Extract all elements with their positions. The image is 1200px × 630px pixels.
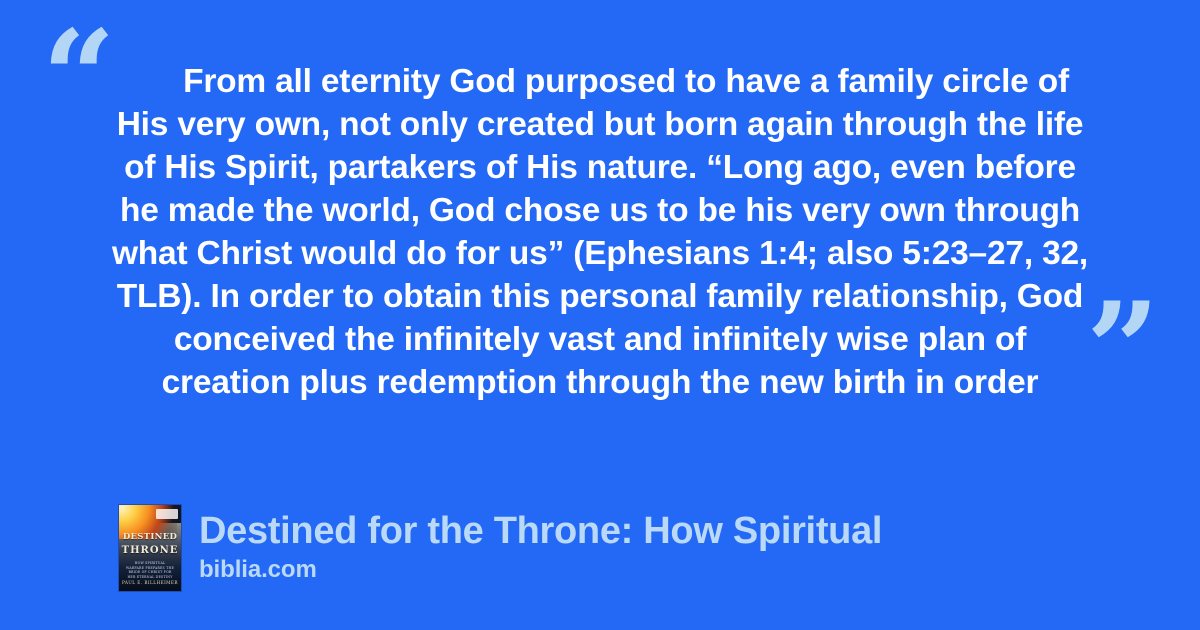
book-cover-award-badge bbox=[156, 509, 178, 519]
book-title: Destined for the Throne: How Spiritual bbox=[199, 509, 882, 553]
footer-attribution: DESTINED THRONE HOW SPIRITUAL WARFARE PR… bbox=[119, 505, 882, 591]
open-quote-icon: “ bbox=[42, 14, 114, 142]
footer-text-block: Destined for the Throne: How Spiritual b… bbox=[199, 505, 882, 585]
quote-text: From all eternity God purposed to have a… bbox=[110, 60, 1090, 404]
close-quote-icon: ” bbox=[1086, 286, 1158, 414]
book-cover-title-line-2: THRONE bbox=[119, 545, 181, 556]
quote-card: “ From all eternity God purposed to have… bbox=[0, 0, 1200, 630]
book-cover-title-line-1: DESTINED bbox=[119, 532, 181, 542]
source-site: biblia.com bbox=[199, 555, 882, 585]
book-cover-subtitle: HOW SPIRITUAL WARFARE PREPARES THE BRIDE… bbox=[125, 561, 175, 579]
book-cover-author: PAUL E. BILLHEIMER bbox=[119, 580, 181, 585]
book-cover-thumbnail: DESTINED THRONE HOW SPIRITUAL WARFARE PR… bbox=[119, 505, 181, 591]
